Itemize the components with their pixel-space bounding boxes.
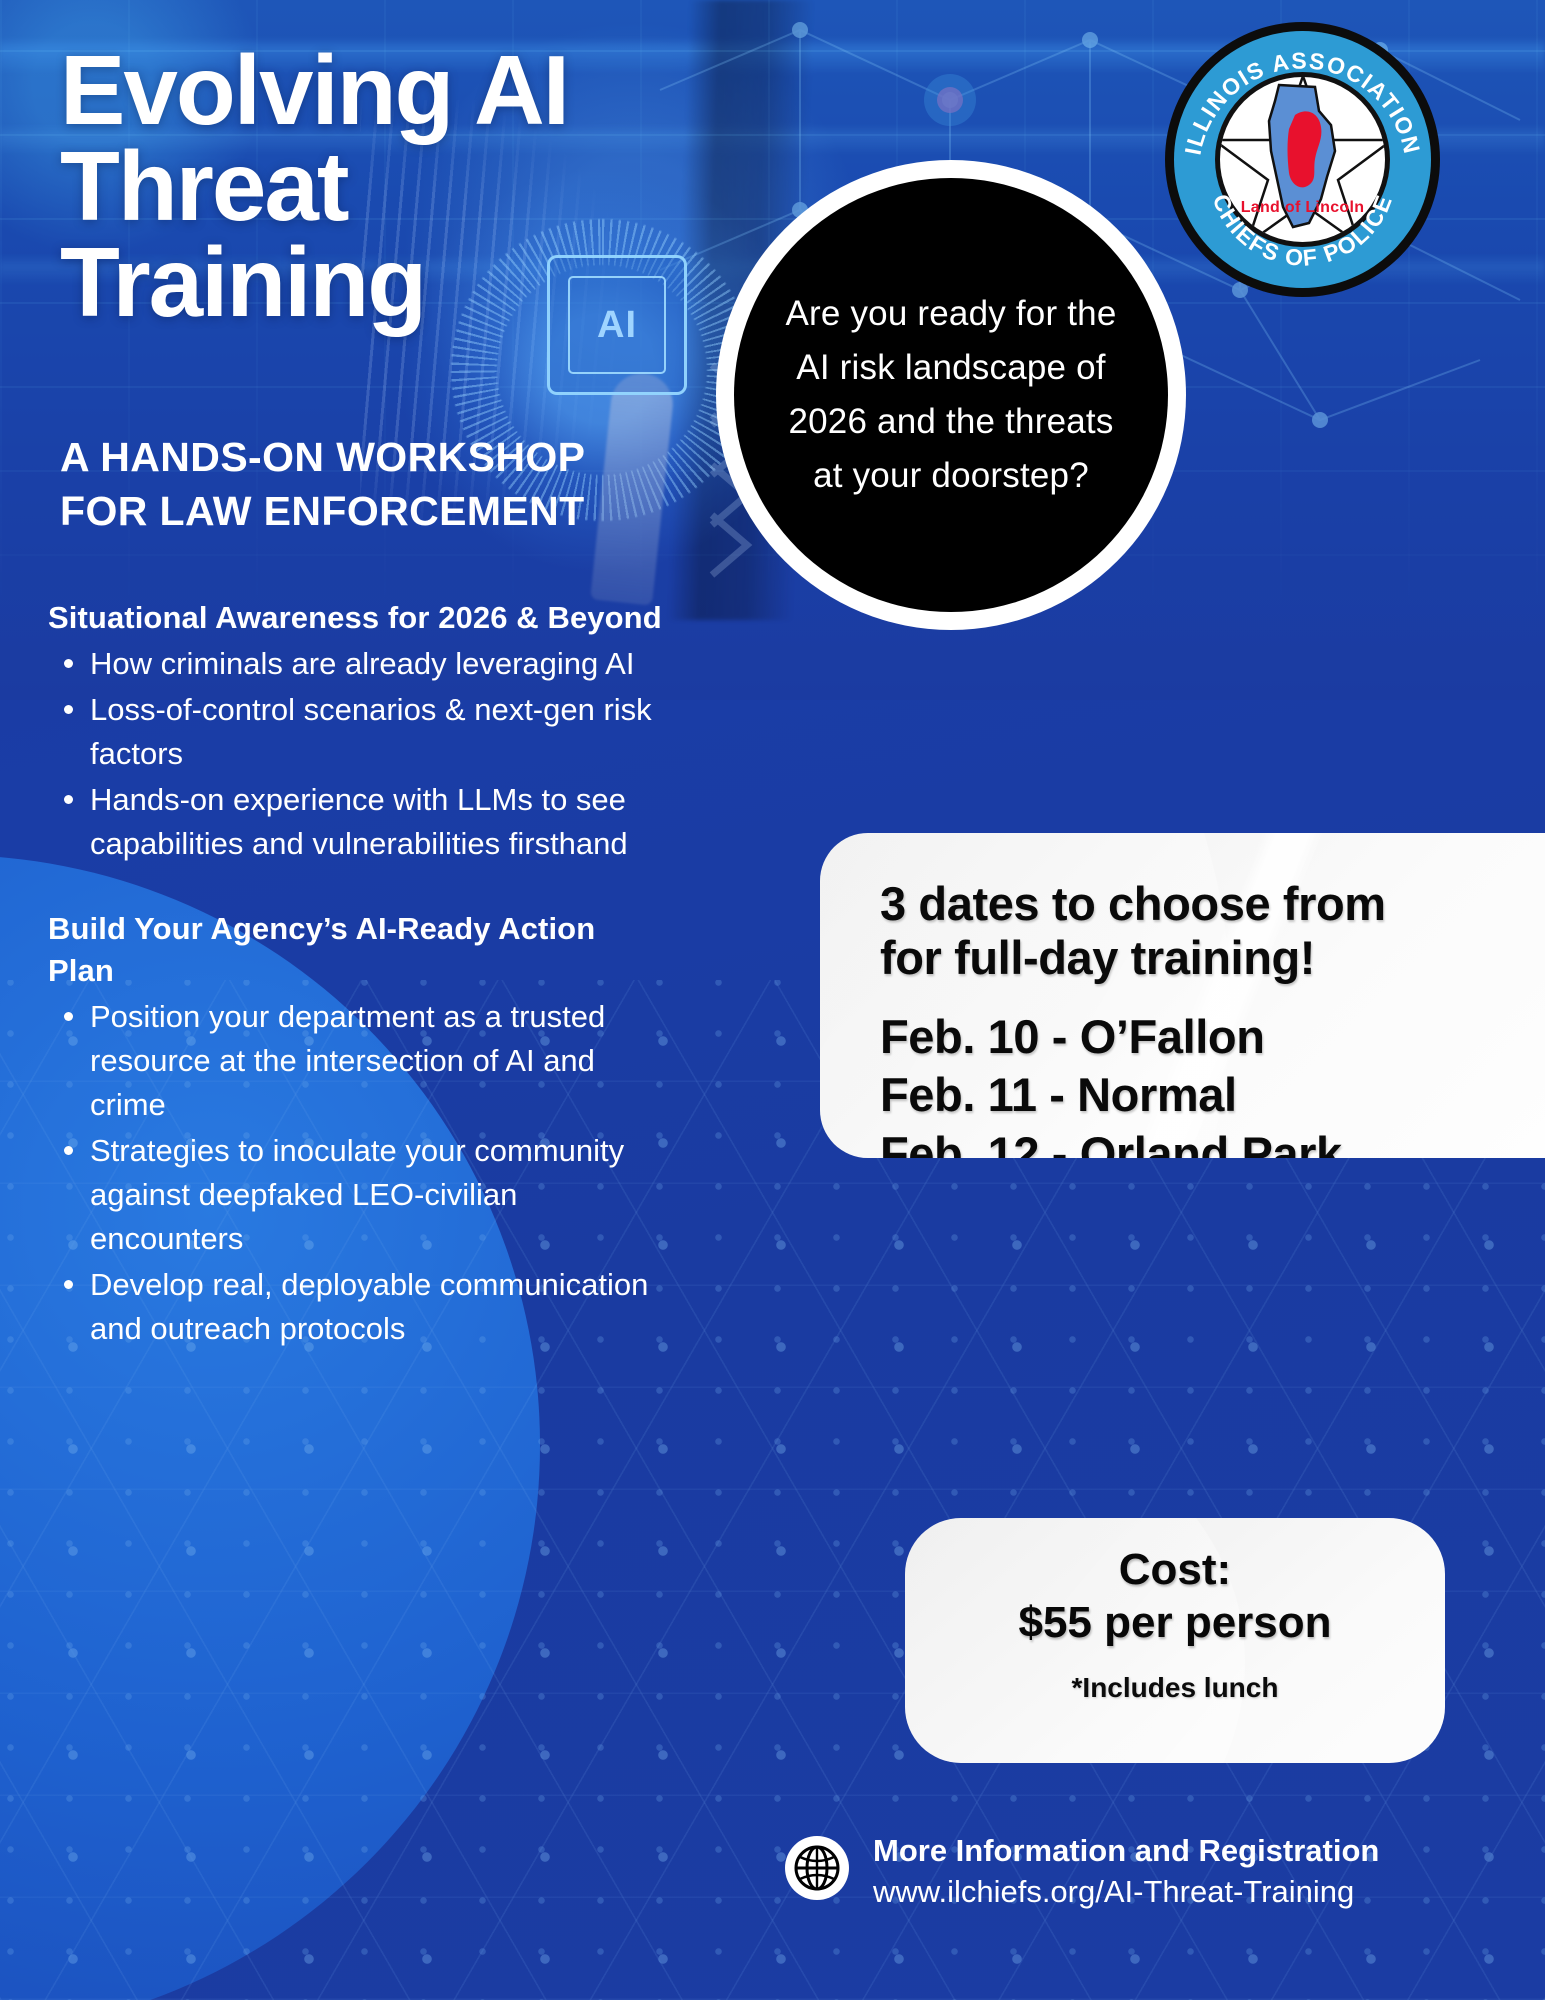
seal-arc-bottom-text: CHIEFS OF POLICE [1208,190,1398,271]
page-subtitle: A HANDS-ON WORKSHOP FOR LAW ENFORCEMENT [60,430,700,538]
subtitle-line-2: FOR LAW ENFORCEMENT [60,484,700,538]
list-item: Position your department as a trusted re… [90,995,668,1127]
list-item: How criminals are already leveraging AI [90,642,668,686]
iacp-seal-logo: Land of Lincoln ILLINOIS ASSOCIATION CHI… [1165,22,1440,297]
program-details: Situational Awareness for 2026 & Beyond … [48,597,668,1353]
footer-registration: More Information and Registration www.il… [785,1832,1525,1912]
seal-arc-top-text: ILLINOIS ASSOCIATION [1180,47,1426,157]
dates-headline: 3 dates to choose from for full-day trai… [880,877,1545,984]
list-item: Develop real, deployable communication a… [90,1263,668,1351]
page-title: Evolving AI Threat Training [60,42,760,330]
title-line-3: Training [60,234,760,330]
dates-headline-line-1: 3 dates to choose from [880,877,1545,931]
date-option-2: Feb. 11 - Normal [880,1066,1545,1124]
section-heading-action-plan: Build Your Agency’s AI-Ready Action Plan [48,908,668,990]
dates-headline-line-2: for full-day training! [880,931,1545,985]
cost-card: Cost: $55 per person *Includes lunch [905,1518,1445,1763]
date-option-1: Feb. 10 - O’Fallon [880,1008,1545,1066]
cost-card-content: Cost: $55 per person *Includes lunch [905,1518,1445,1704]
subtitle-line-1: A HANDS-ON WORKSHOP [60,430,700,484]
date-option-3: Feb. 12 - Orland Park [880,1125,1545,1158]
callout-circle: Are you ready for the AI risk landscape … [734,178,1168,612]
footer-text-block: More Information and Registration www.il… [873,1832,1379,1912]
callout-text: Are you ready for the AI risk landscape … [772,287,1130,504]
title-line-2: Threat [60,138,760,234]
dates-card-content: 3 dates to choose from for full-day trai… [820,833,1545,1158]
list-item: Loss-of-control scenarios & next-gen ris… [90,688,668,776]
bullet-list-action-plan: Position your department as a trusted re… [60,995,668,1351]
title-line-1: Evolving AI [60,42,760,138]
globe-icon [785,1836,849,1900]
globe-glyph [792,1843,842,1893]
list-item: Hands-on experience with LLMs to see cap… [90,778,668,866]
list-item: Strategies to inoculate your community a… [90,1129,668,1261]
footer-title: More Information and Registration [873,1832,1379,1869]
seal-arc-text: ILLINOIS ASSOCIATION CHIEFS OF POLICE [1165,22,1440,297]
cost-amount: $55 per person [905,1594,1445,1651]
section-spacer [48,868,668,908]
registration-url[interactable]: www.ilchiefs.org/AI-Threat-Training [873,1873,1379,1912]
dates-card: 3 dates to choose from for full-day trai… [820,833,1545,1158]
bullet-list-awareness: How criminals are already leveraging AI … [60,642,668,866]
flyer-poster: AI Evolving AI Threat Training A HANDS-O… [0,0,1545,2000]
section-heading-awareness: Situational Awareness for 2026 & Beyond [48,597,668,638]
cost-note: *Includes lunch [905,1672,1445,1704]
cost-label: Cost: [905,1546,1445,1594]
